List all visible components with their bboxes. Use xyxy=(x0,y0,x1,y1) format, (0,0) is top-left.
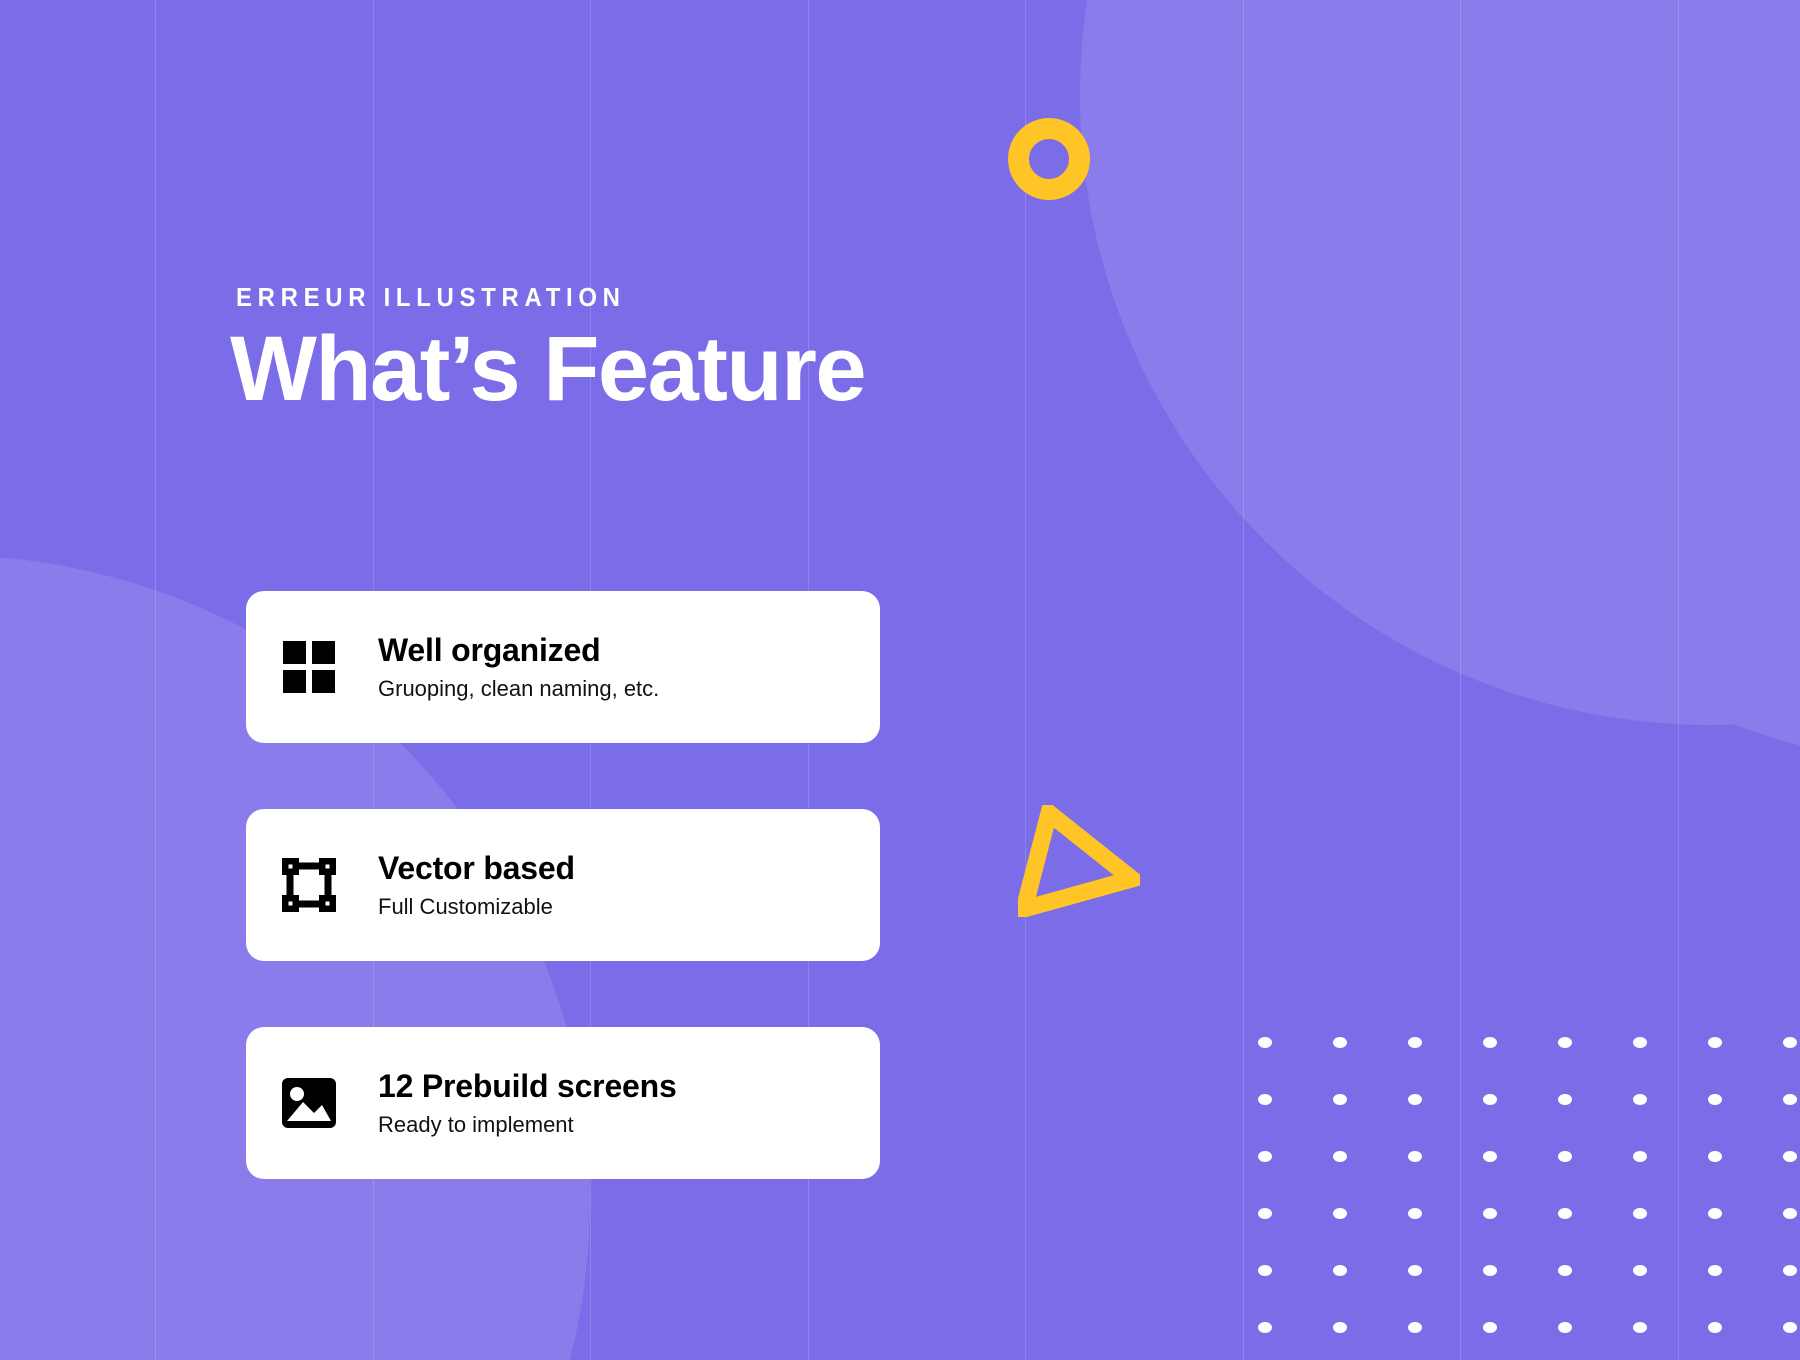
guide-line-5 xyxy=(1025,0,1026,1360)
feature-card-text: Vector based Full Customizable xyxy=(378,850,575,920)
headline-block: ERREUR ILLUSTRATION What’s Feature xyxy=(236,282,865,419)
grid-dot xyxy=(1408,1094,1422,1105)
guide-line-1 xyxy=(155,0,156,1360)
feature-card-title: Vector based xyxy=(378,850,575,887)
feature-card[interactable]: 12 Prebuild screens Ready to implement xyxy=(246,1027,880,1179)
image-icon xyxy=(280,1074,338,1132)
grid-dot xyxy=(1258,1037,1272,1048)
grid-dot xyxy=(1483,1037,1497,1048)
yellow-ring-icon xyxy=(1008,118,1090,200)
grid-dot xyxy=(1408,1208,1422,1219)
grid-dot xyxy=(1333,1037,1347,1048)
grid-dot xyxy=(1483,1151,1497,1162)
grid-dot xyxy=(1258,1265,1272,1276)
feature-card-text: 12 Prebuild screens Ready to implement xyxy=(378,1068,677,1138)
grid-dot xyxy=(1708,1094,1722,1105)
grid-dot xyxy=(1558,1208,1572,1219)
grid-dot xyxy=(1783,1208,1797,1219)
grid-dot xyxy=(1633,1322,1647,1333)
grid-dot xyxy=(1483,1265,1497,1276)
grid-dot xyxy=(1333,1094,1347,1105)
grid-dot xyxy=(1258,1208,1272,1219)
grid-dot xyxy=(1783,1322,1797,1333)
grid-dot xyxy=(1633,1151,1647,1162)
feature-card-title: Well organized xyxy=(378,632,659,669)
grid-dot xyxy=(1258,1151,1272,1162)
grid-dot xyxy=(1708,1322,1722,1333)
grid-dot xyxy=(1558,1094,1572,1105)
feature-card-subtitle: Ready to implement xyxy=(378,1112,677,1138)
feature-card-subtitle: Full Customizable xyxy=(378,894,575,920)
grid-dot xyxy=(1483,1322,1497,1333)
feature-card[interactable]: Vector based Full Customizable xyxy=(246,809,880,961)
grid-dot xyxy=(1483,1094,1497,1105)
dot-grid-pattern xyxy=(1258,1037,1800,1360)
grid-dot xyxy=(1408,1322,1422,1333)
feature-card[interactable]: Well organized Gruoping, clean naming, e… xyxy=(246,591,880,743)
grid-dot xyxy=(1333,1208,1347,1219)
feature-card-subtitle: Gruoping, clean naming, etc. xyxy=(378,676,659,702)
grid-dot xyxy=(1258,1094,1272,1105)
grid-dot xyxy=(1708,1208,1722,1219)
grid-dot xyxy=(1783,1151,1797,1162)
yellow-triangle-icon xyxy=(1018,805,1140,917)
grid-dot xyxy=(1633,1208,1647,1219)
grid-dot xyxy=(1408,1151,1422,1162)
feature-card-list: Well organized Gruoping, clean naming, e… xyxy=(246,591,880,1179)
eyebrow-label: ERREUR ILLUSTRATION xyxy=(236,282,815,313)
grid-dot xyxy=(1408,1037,1422,1048)
vector-node-icon xyxy=(280,856,338,914)
grid-dot xyxy=(1483,1208,1497,1219)
grid-icon xyxy=(280,638,338,696)
grid-dot xyxy=(1558,1037,1572,1048)
grid-dot xyxy=(1558,1322,1572,1333)
grid-dot xyxy=(1333,1265,1347,1276)
feature-card-title: 12 Prebuild screens xyxy=(378,1068,677,1105)
grid-dot xyxy=(1558,1265,1572,1276)
grid-dot xyxy=(1708,1037,1722,1048)
grid-dot xyxy=(1783,1037,1797,1048)
grid-dot xyxy=(1333,1322,1347,1333)
grid-dot xyxy=(1633,1094,1647,1105)
grid-dot xyxy=(1258,1322,1272,1333)
grid-dot xyxy=(1333,1151,1347,1162)
grid-dot xyxy=(1408,1265,1422,1276)
grid-dot xyxy=(1558,1151,1572,1162)
grid-dot xyxy=(1633,1265,1647,1276)
feature-card-text: Well organized Gruoping, clean naming, e… xyxy=(378,632,659,702)
grid-dot xyxy=(1708,1265,1722,1276)
grid-dot xyxy=(1783,1265,1797,1276)
slide-canvas: ERREUR ILLUSTRATION What’s Feature Well … xyxy=(0,0,1800,1360)
page-title: What’s Feature xyxy=(230,321,865,419)
grid-dot xyxy=(1633,1037,1647,1048)
grid-dot xyxy=(1708,1151,1722,1162)
guide-line-6 xyxy=(1243,0,1244,1360)
grid-dot xyxy=(1783,1094,1797,1105)
